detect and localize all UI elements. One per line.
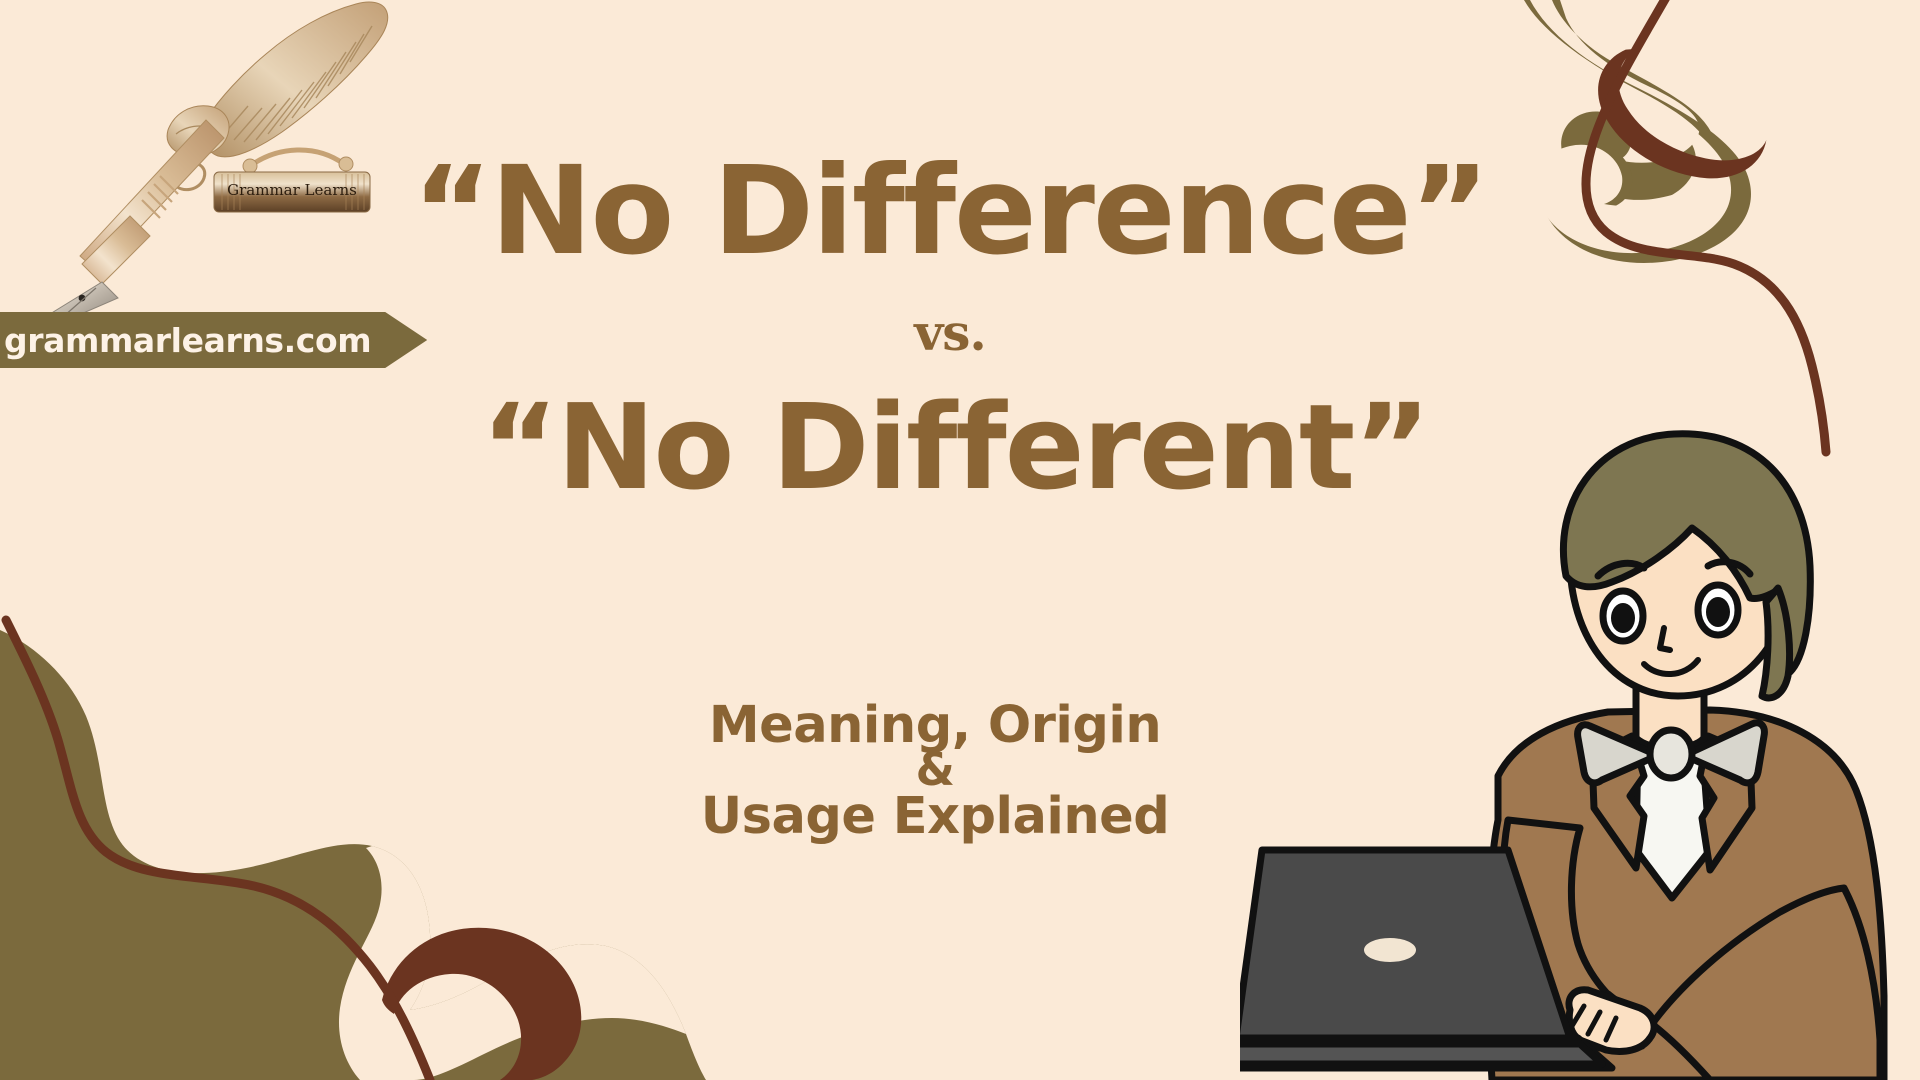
person-typing-icon (1240, 420, 1920, 1080)
quill-engraving-text: Grammar Learns (227, 181, 357, 199)
site-url-text: grammarlearns.com (4, 321, 371, 360)
headline-separator: vs. (360, 308, 1540, 358)
quill-shaft (80, 120, 224, 284)
bottom-left-ribbon-line (6, 620, 430, 1080)
poster-canvas: Grammar Learns grammarlearns.com “No Dif… (0, 0, 1920, 1080)
bottom-left-olive-field (0, 630, 706, 1080)
person-hair-side-fringe (1762, 588, 1790, 698)
top-right-blob-group (1538, 0, 1920, 242)
top-right-ribbon-line (1586, 0, 1826, 452)
headline-line-1: “No Difference” (360, 150, 1540, 272)
person-pupil-right (1706, 597, 1730, 627)
person-laptop-illustration (1240, 420, 1920, 1080)
top-right-olive-field (1524, 0, 1920, 263)
person-pupil-left (1611, 603, 1635, 633)
bottom-left-cream-notch (339, 846, 686, 1080)
top-right-olive-blob (1552, 0, 1920, 200)
top-right-brown-crescent (1595, 40, 1769, 186)
laptop-keyboard-deck (1240, 1044, 1602, 1064)
person-bowtie (1578, 723, 1765, 783)
quill-barrel: Grammar Learns (214, 150, 370, 212)
bottom-left-brown-crescent (382, 928, 581, 1080)
top-right-cream-swirl (1514, 0, 1731, 253)
laptop-logo (1364, 938, 1416, 962)
